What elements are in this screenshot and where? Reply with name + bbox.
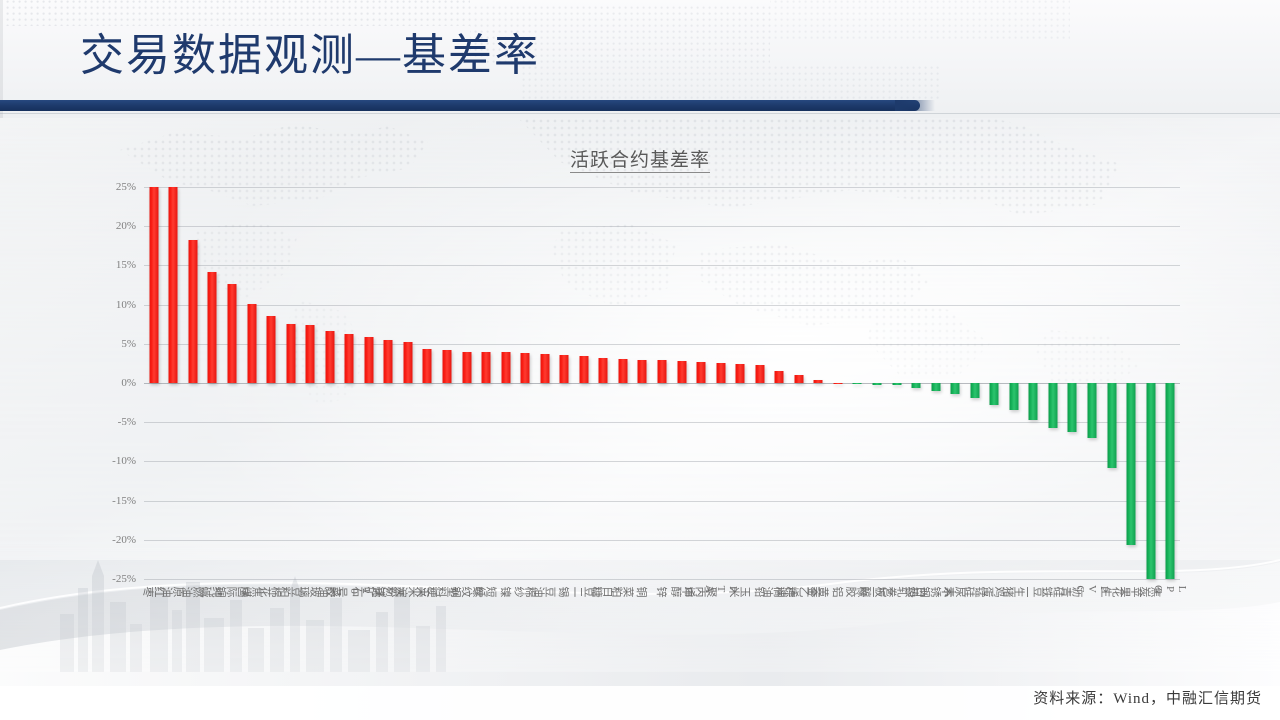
y-axis-tick: 20% (116, 220, 136, 232)
x-axis-tick-slot: 玻璃 (300, 579, 320, 699)
bar-slot (379, 187, 399, 579)
x-axis-tick-slot: 尿素 (945, 579, 965, 699)
x-axis-tick-slot: 豆一 (1024, 579, 1044, 699)
bar-slot (809, 187, 829, 579)
bar (794, 375, 803, 383)
x-axis-tick-slot: 菜粕 (613, 579, 633, 699)
x-axis-tick-slot: 豆油 (535, 579, 555, 699)
bar-slot (261, 187, 281, 579)
x-axis-tick-slot: 棉纱 (515, 579, 535, 699)
x-axis-tick-slot: 镍 (496, 579, 516, 699)
bar-slot (672, 187, 692, 579)
bar-slot (437, 187, 457, 579)
x-axis-tick-slot: 豆二 (574, 579, 594, 699)
bar (442, 350, 451, 383)
bar-slot (594, 187, 614, 579)
bar (697, 362, 706, 383)
chart-container: 活跃合约基差率 25%20%15%10%5%0%-5%-10%-15%-20%-… (100, 145, 1180, 595)
bar (833, 383, 842, 384)
bar (931, 383, 940, 391)
x-axis-tick-slot: 短纤 (476, 579, 496, 699)
bar (873, 383, 882, 385)
bar (638, 360, 647, 383)
bar (423, 349, 432, 383)
x-axis-tick-label: 黄金 (807, 583, 829, 599)
bar (951, 383, 960, 394)
x-axis-tick-slot: 粳米 (418, 579, 438, 699)
page-title: 交易数据观测—基差率 (80, 28, 540, 84)
y-axis-tick: -25% (112, 573, 136, 585)
header-hairline (0, 113, 1280, 114)
x-axis-tick-label: 锌 (656, 583, 667, 599)
x-axis-tick-slot: 苯乙烯油 (789, 579, 809, 699)
x-axis-tick-label: 豆油 (534, 583, 556, 599)
x-axis-tick-slot: 黄金 (809, 579, 829, 699)
bar (267, 316, 276, 383)
bar (970, 383, 979, 398)
x-axis-tick-slot: 铝 (828, 579, 848, 699)
bar (208, 272, 217, 383)
x-axis-tick-slot: 棉花 (261, 579, 281, 699)
bar (892, 383, 901, 385)
x-axis-tick-slot: 锌 (652, 579, 672, 699)
bar (1048, 383, 1057, 428)
chart-title-text: 活跃合约基差率 (570, 150, 710, 173)
x-axis-tick-label: 锡 (559, 583, 570, 599)
x-axis-tick-label: 玻璃 (299, 583, 321, 599)
bar-slot (222, 187, 242, 579)
bar (677, 361, 686, 383)
bar (1107, 383, 1116, 468)
bar-slot (554, 187, 574, 579)
x-axis-tick-slot: 聚丙烯 (691, 579, 711, 699)
slide-canvas: 交易数据观测—基差率 活跃合约基差率 25%20%15%10%5%0%-5%-1… (0, 0, 1280, 720)
source-note: 资料来源：Wind，中融汇信期货 (1033, 687, 1262, 708)
bar-slot (691, 187, 711, 579)
x-axis-tick-slot: 硅铁 (1043, 579, 1063, 699)
x-axis-tick-label: 棉纱 (514, 583, 536, 599)
x-axis-tick-label: 玉米 (729, 583, 751, 599)
x-axis-tick-slot: PVC (1082, 579, 1102, 699)
y-axis-tick: 5% (121, 338, 136, 350)
bar (755, 365, 764, 383)
bar-slot (730, 187, 750, 579)
y-axis-tick: 15% (116, 259, 136, 271)
bar (1068, 383, 1077, 432)
x-axis-tick-slot: 玉米淀粉 (398, 579, 418, 699)
x-axis-tick-label: LPG (1152, 583, 1188, 595)
x-axis-tick-label: 铝 (832, 583, 843, 599)
x-axis-tick-label: 棉花 (260, 583, 282, 599)
bar (325, 331, 334, 383)
bar (775, 371, 784, 383)
x-axis-tick-label: 苹果 (1120, 583, 1142, 599)
bar-slot (281, 187, 301, 579)
x-axis-tick-label: 尿素 (944, 583, 966, 599)
bar (149, 187, 158, 383)
bar-slot (965, 187, 985, 579)
bar (364, 337, 373, 383)
bar (560, 355, 569, 383)
x-axis-tick-slot: 锰硅 (965, 579, 985, 699)
bar-slot (183, 187, 203, 579)
bar-slot (1024, 187, 1044, 579)
x-axis-tick-slot: 沥青 (1063, 579, 1083, 699)
bar (912, 383, 921, 388)
bar (1088, 383, 1097, 438)
bar (618, 359, 627, 383)
y-axis-tick: 25% (116, 181, 136, 193)
bar-slot (770, 187, 790, 579)
x-axis-tick-slot: 螺纹钢 (457, 579, 477, 699)
x-axis-tick-slot: 燃油 (183, 579, 203, 699)
bar (169, 187, 178, 383)
y-axis-tick: -20% (112, 534, 136, 546)
plot-area (144, 187, 1180, 579)
bar (1146, 383, 1155, 579)
bar-slot (906, 187, 926, 579)
bar (227, 284, 236, 383)
bar-slot (1141, 187, 1161, 579)
bar-slot (789, 187, 809, 579)
y-axis-tick: -5% (118, 416, 136, 428)
x-axis-tick-slot: 热轧卷板 (887, 579, 907, 699)
bar-slot (515, 187, 535, 579)
chart-title: 活跃合约基差率 (100, 145, 1180, 172)
y-axis: 25%20%15%10%5%0%-5%-10%-15%-20%-25% (100, 187, 140, 579)
bar (306, 325, 315, 383)
bar-series (144, 187, 1180, 579)
bar-slot (711, 187, 731, 579)
bar-slot (164, 187, 184, 579)
bar-slot (848, 187, 868, 579)
bar (853, 383, 862, 384)
bar (990, 383, 999, 405)
x-axis-tick-label: 菜粕 (612, 583, 634, 599)
bar (188, 240, 197, 383)
bar-slot (1121, 187, 1141, 579)
x-axis-tick-slot: 生猪 (1004, 579, 1024, 699)
bar-slot (750, 187, 770, 579)
x-axis-tick-slot: 锡 (554, 579, 574, 699)
bar-slot (887, 187, 907, 579)
bar (482, 352, 491, 383)
bar-slot (945, 187, 965, 579)
header-accent-bar-tail (895, 100, 935, 111)
x-axis-tick-slot: 苹果 (1121, 579, 1141, 699)
bar-slot (926, 187, 946, 579)
bar-slot (1043, 187, 1063, 579)
y-axis-tick: 0% (121, 377, 136, 389)
bar (1127, 383, 1136, 545)
bar-slot (867, 187, 887, 579)
x-axis-tick-label: 铜 (637, 583, 648, 599)
bar (1166, 383, 1175, 579)
bar-slot (457, 187, 477, 579)
bar-slot (359, 187, 379, 579)
bar-slot (496, 187, 516, 579)
bar (345, 334, 354, 383)
bar-slot (652, 187, 672, 579)
x-axis: 红枣原油燃油纯碱国际铜焦煤棉花豆粕玻璃菜油20号胶铁矿石苯乙烯玉米淀粉粳米塑料螺… (144, 579, 1180, 699)
x-axis-tick-label: 鸡蛋 (983, 583, 1005, 599)
y-axis-tick: -10% (112, 455, 136, 467)
bar-slot (828, 187, 848, 579)
bar-slot (574, 187, 594, 579)
bar (1029, 383, 1038, 420)
bar-slot (320, 187, 340, 579)
bar (599, 358, 608, 383)
x-axis-tick-label: 短纤 (475, 583, 497, 599)
bar (736, 364, 745, 383)
bar-slot (339, 187, 359, 579)
bar-slot (398, 187, 418, 579)
y-axis-tick: 10% (116, 299, 136, 311)
slide-header: 交易数据观测—基差率 (0, 0, 1280, 118)
x-axis-tick-label: 镍 (500, 583, 511, 599)
bar-slot (476, 187, 496, 579)
bar (716, 363, 725, 383)
bar (462, 352, 471, 383)
y-axis-tick: -15% (112, 495, 136, 507)
x-axis-tick-slot: 焦煤 (242, 579, 262, 699)
bar-slot (1082, 187, 1102, 579)
bar-slot (613, 187, 633, 579)
bar (403, 342, 412, 383)
bar-slot (633, 187, 653, 579)
bar (814, 380, 823, 383)
bar (247, 304, 256, 383)
chart-plot-wrapper: 25%20%15%10%5%0%-5%-10%-15%-20%-25% 红枣原油… (100, 187, 1180, 579)
bar-slot (535, 187, 555, 579)
bar-slot (300, 187, 320, 579)
x-axis-tick-slot: 玉米 (730, 579, 750, 699)
bar-slot (203, 187, 223, 579)
bar (384, 340, 393, 383)
bar (1009, 383, 1018, 410)
bar-slot (242, 187, 262, 579)
bar-slot (1063, 187, 1083, 579)
x-axis-tick-slot: LPG (1160, 579, 1180, 699)
x-axis-tick-label: 原油 (162, 583, 184, 599)
x-axis-tick-slot: 焦炭 (1141, 579, 1161, 699)
bar (521, 353, 530, 383)
bar (286, 324, 295, 383)
x-axis-tick-slot: 豆粕 (281, 579, 301, 699)
x-axis-tick-slot: PTA (711, 579, 731, 699)
bar-slot (144, 187, 164, 579)
x-axis-tick-slot: 鸡蛋 (985, 579, 1005, 699)
bar-slot (1160, 187, 1180, 579)
bar-slot (1004, 187, 1024, 579)
bar (501, 352, 510, 383)
bar (657, 360, 666, 383)
bar (540, 354, 549, 383)
x-axis-tick-slot: 不锈钢 (926, 579, 946, 699)
header-accent-bar (0, 100, 920, 111)
bar-slot (418, 187, 438, 579)
bar (579, 356, 588, 383)
bar-slot (985, 187, 1005, 579)
x-axis-tick-slot: 国际铜 (222, 579, 242, 699)
x-axis-tick-slot: 原油 (164, 579, 184, 699)
x-axis-tick-slot: 花生 (1102, 579, 1122, 699)
x-axis-tick-slot: 铜 (633, 579, 653, 699)
bar-slot (1102, 187, 1122, 579)
x-axis-tick-slot: 红枣 (144, 579, 164, 699)
x-axis-tick-slot: 白糖 (594, 579, 614, 699)
